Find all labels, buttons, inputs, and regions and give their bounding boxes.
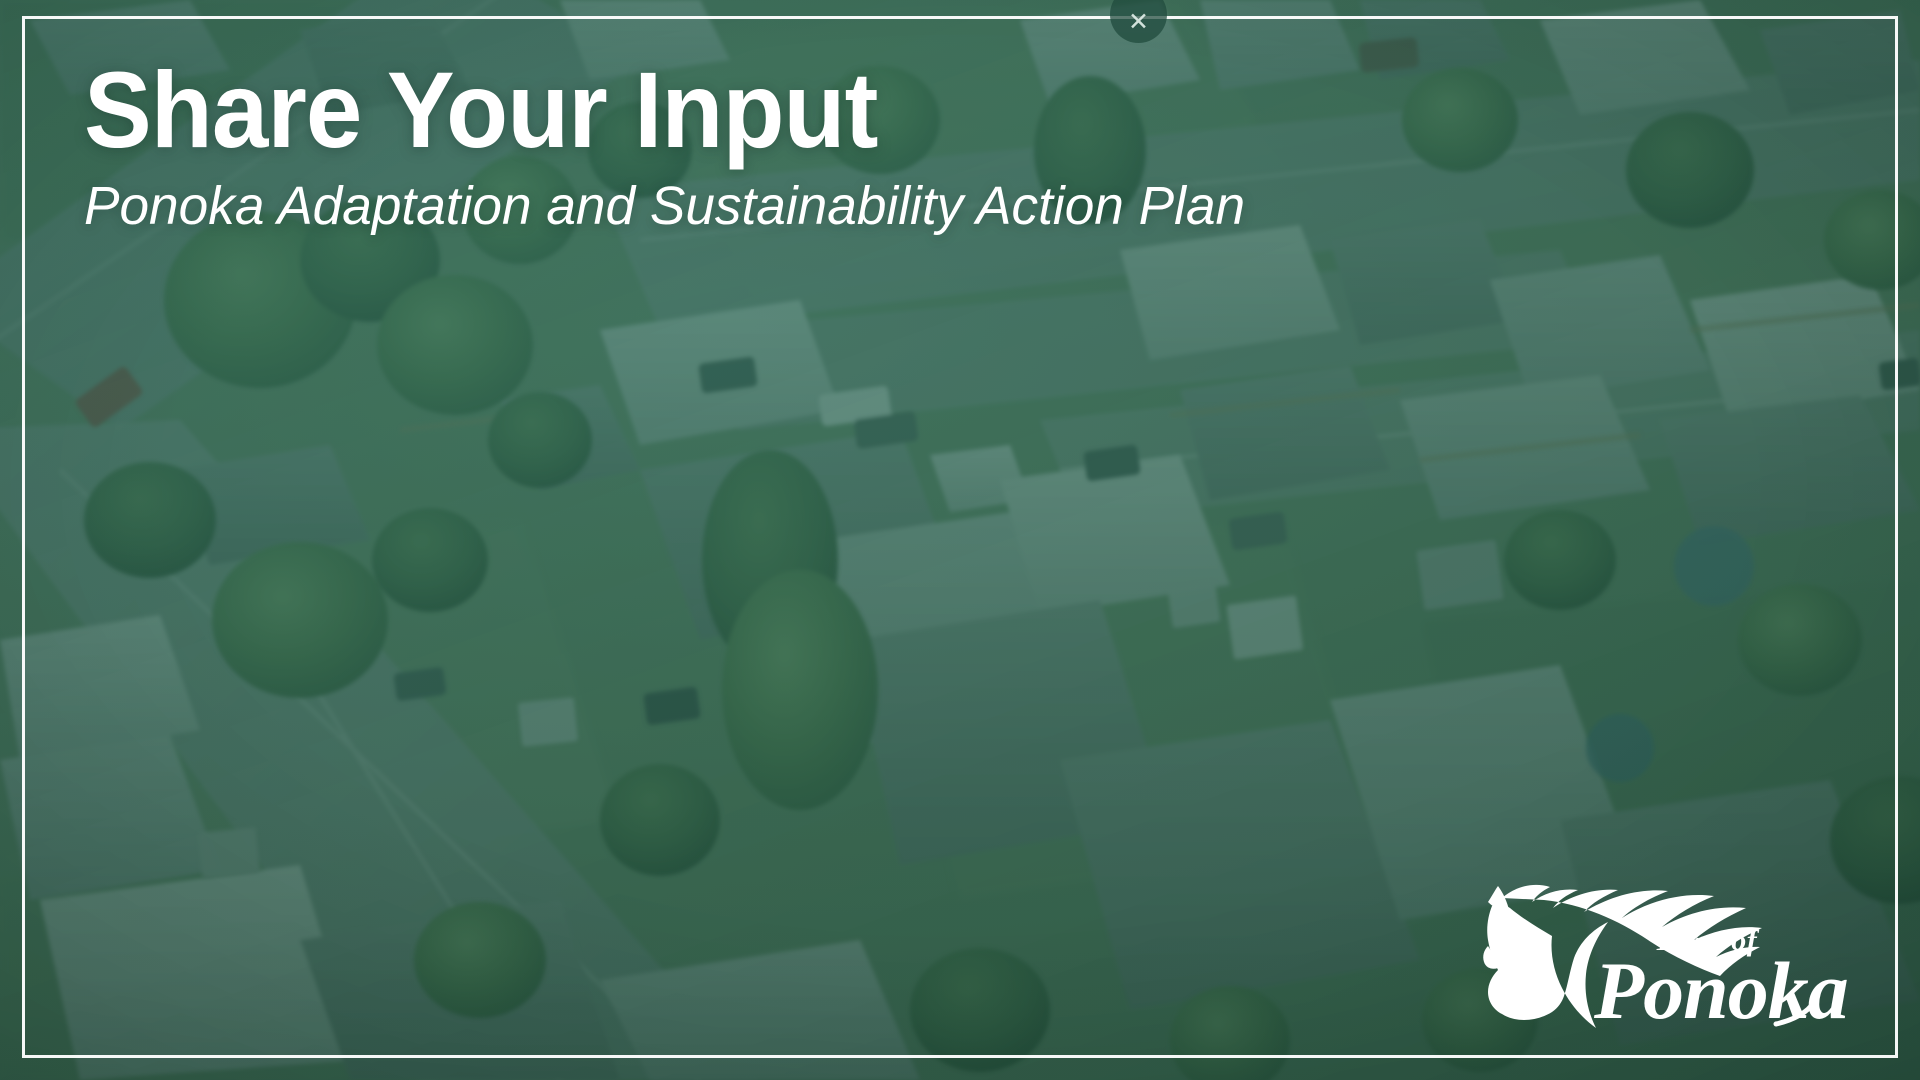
- logo-ponoka-text: Ponoka: [1593, 945, 1848, 1036]
- headline-block: Share Your Input Ponoka Adaptation and S…: [84, 54, 1263, 237]
- slide-canvas: ✕ Share Your Input Ponoka Adaptation and…: [0, 0, 1920, 1080]
- logo-wordmark-large: Ponoka: [1593, 945, 1848, 1036]
- town-of-ponoka-logo: Town of Ponoka: [1458, 842, 1878, 1062]
- page-subtitle: Ponoka Adaptation and Sustainability Act…: [84, 176, 1245, 236]
- close-icon: ✕: [1128, 9, 1149, 34]
- page-title: Share Your Input: [84, 54, 1192, 166]
